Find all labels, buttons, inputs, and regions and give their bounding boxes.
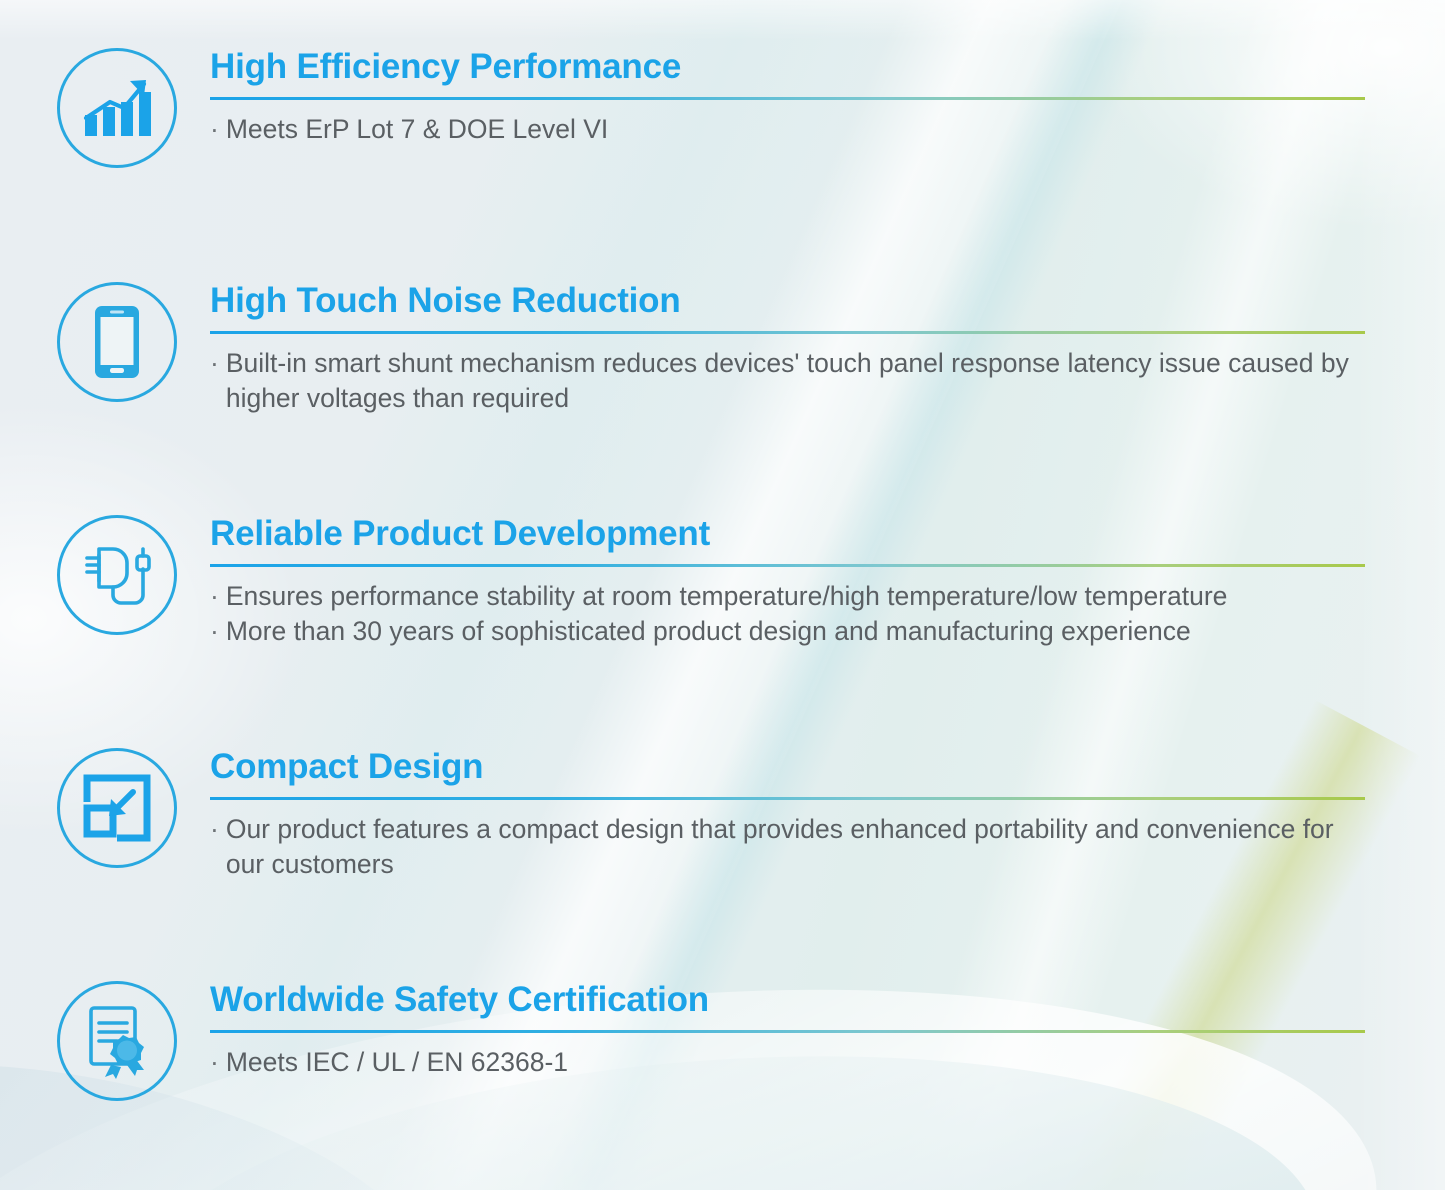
feature-bullets: · Ensures performance stability at room … <box>210 579 1365 649</box>
bullet-text: Built-in smart shunt mechanism reduces d… <box>226 346 1365 416</box>
feature-body: Worldwide Safety Certification · Meets I… <box>210 981 1445 1080</box>
feature-title: High Efficiency Performance <box>210 48 1365 86</box>
feature-divider <box>210 797 1365 800</box>
feature-bullets: · Meets IEC / UL / EN 62368-1 <box>210 1045 1365 1080</box>
smartphone-icon <box>57 282 177 402</box>
feature-icon-wrap <box>52 282 182 402</box>
feature-item-compact-design: Compact Design · Our product features a … <box>0 748 1445 882</box>
feature-bullets: · Meets ErP Lot 7 & DOE Level VI <box>210 112 1365 147</box>
feature-title: Worldwide Safety Certification <box>210 981 1365 1019</box>
bullet-text: Our product features a compact design th… <box>226 812 1365 882</box>
bullet-item: · Meets ErP Lot 7 & DOE Level VI <box>210 112 1365 147</box>
feature-icon-wrap <box>52 515 182 635</box>
bullet-marker: · <box>210 1045 219 1080</box>
bullet-marker: · <box>210 346 219 381</box>
certificate-award-icon <box>57 981 177 1101</box>
bullet-marker: · <box>210 579 219 614</box>
bullet-item: · Meets IEC / UL / EN 62368-1 <box>210 1045 1365 1080</box>
power-adapter-icon <box>57 515 177 635</box>
feature-item-high-touch-noise-reduction: High Touch Noise Reduction · Built-in sm… <box>0 282 1445 416</box>
feature-bullets: · Built-in smart shunt mechanism reduces… <box>210 346 1365 416</box>
bullet-item: · Built-in smart shunt mechanism reduces… <box>210 346 1365 416</box>
feature-highlights-page: High Efficiency Performance · Meets ErP … <box>0 0 1445 1190</box>
compact-resize-icon <box>57 748 177 868</box>
feature-item-worldwide-safety-certification: Worldwide Safety Certification · Meets I… <box>0 981 1445 1101</box>
bullet-text: More than 30 years of sophisticated prod… <box>226 614 1365 649</box>
bullet-item: · Ensures performance stability at room … <box>210 579 1365 614</box>
bullet-text: Meets ErP Lot 7 & DOE Level VI <box>226 112 1365 147</box>
bullet-text: Ensures performance stability at room te… <box>226 579 1365 614</box>
feature-divider <box>210 1030 1365 1033</box>
feature-icon-wrap <box>52 981 182 1101</box>
bar-chart-growth-icon <box>57 48 177 168</box>
feature-item-reliable-product-development: Reliable Product Development · Ensures p… <box>0 515 1445 649</box>
background-top-fade <box>0 0 1445 40</box>
feature-title: High Touch Noise Reduction <box>210 282 1365 320</box>
bullet-item: · More than 30 years of sophisticated pr… <box>210 614 1365 649</box>
feature-body: High Efficiency Performance · Meets ErP … <box>210 48 1445 147</box>
feature-icon-wrap <box>52 748 182 868</box>
feature-bullets: · Our product features a compact design … <box>210 812 1365 882</box>
feature-divider <box>210 564 1365 567</box>
bullet-marker: · <box>210 614 219 649</box>
feature-body: Compact Design · Our product features a … <box>210 748 1445 882</box>
feature-divider <box>210 97 1365 100</box>
feature-divider <box>210 331 1365 334</box>
feature-icon-wrap <box>52 48 182 168</box>
feature-body: High Touch Noise Reduction · Built-in sm… <box>210 282 1445 416</box>
feature-title: Reliable Product Development <box>210 515 1365 553</box>
feature-body: Reliable Product Development · Ensures p… <box>210 515 1445 649</box>
bullet-item: · Our product features a compact design … <box>210 812 1365 882</box>
bullet-text: Meets IEC / UL / EN 62368-1 <box>226 1045 1365 1080</box>
feature-item-high-efficiency-performance: High Efficiency Performance · Meets ErP … <box>0 48 1445 168</box>
bullet-marker: · <box>210 812 219 847</box>
bullet-marker: · <box>210 112 219 147</box>
feature-title: Compact Design <box>210 748 1365 786</box>
